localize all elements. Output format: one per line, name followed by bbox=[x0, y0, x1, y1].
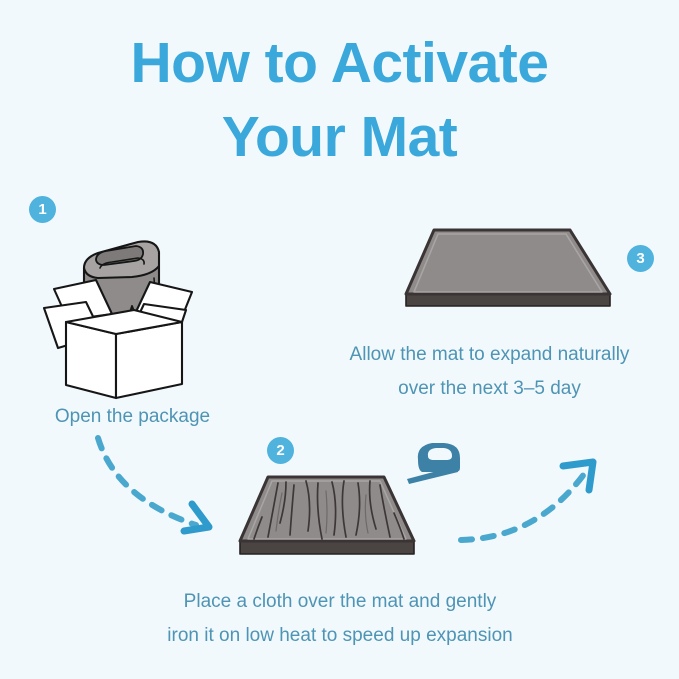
step-badge-2: 2 bbox=[267, 437, 294, 464]
step-3-caption-line-1: Allow the mat to expand naturally bbox=[300, 338, 679, 372]
title-line-2: Your Mat bbox=[0, 100, 679, 174]
dashed-curved-arrow-down-right-icon bbox=[88, 432, 238, 547]
step-2-caption-line-2: iron it on low heat to speed up expansio… bbox=[100, 619, 580, 653]
infographic-poster: How to Activate Your Mat 1 bbox=[0, 0, 679, 679]
expanded-mat-illustration bbox=[396, 218, 620, 318]
step-2-caption-line-1: Place a cloth over the mat and gently bbox=[100, 585, 580, 619]
step-1-caption-line-1: Open the package bbox=[0, 400, 265, 434]
step-badge-3: 3 bbox=[627, 245, 654, 272]
page-title: How to Activate Your Mat bbox=[0, 26, 679, 174]
step-badge-1: 1 bbox=[29, 196, 56, 223]
dashed-curved-arrow-up-right-icon bbox=[455, 448, 610, 558]
open-package-illustration bbox=[40, 222, 215, 402]
step-2-caption: Place a cloth over the mat and gently ir… bbox=[100, 585, 580, 653]
step-3-caption: Allow the mat to expand naturally over t… bbox=[300, 338, 679, 406]
step-1-caption: Open the package bbox=[0, 400, 265, 434]
step-3-caption-line-2: over the next 3–5 day bbox=[300, 372, 679, 406]
wrinkled-mat-illustration bbox=[228, 465, 424, 565]
title-line-1: How to Activate bbox=[0, 26, 679, 100]
